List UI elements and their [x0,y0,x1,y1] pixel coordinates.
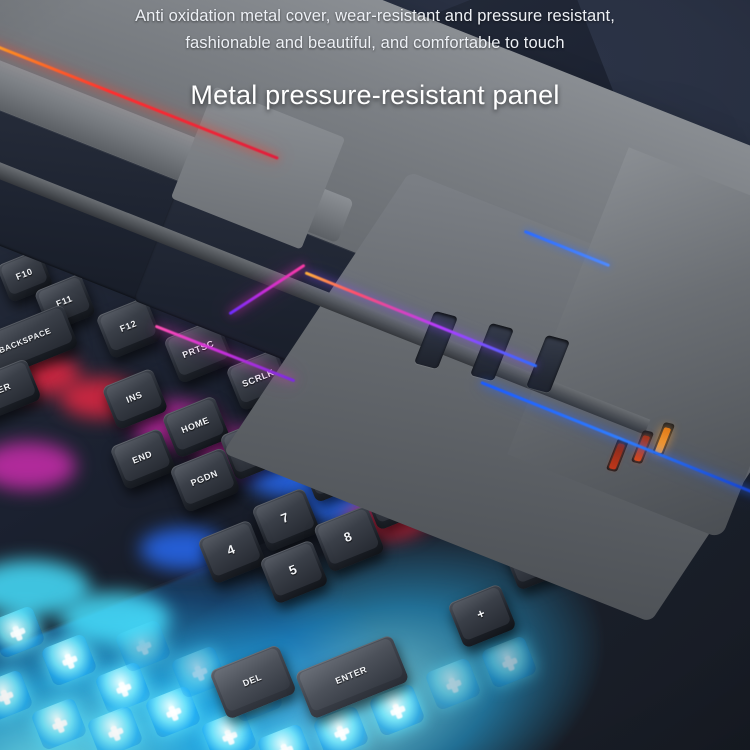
keycap-label: DEL [241,671,263,688]
keycap-label: HOME [180,415,211,435]
subtitle-line-1: Anti oxidation metal cover, wear-resista… [0,3,750,30]
rgb-underglow [60,592,170,644]
keycap-label: INS [124,389,143,405]
subtitle-line-2: fashionable and beautiful, and comfortab… [0,30,750,57]
keycap-label: PGDN [189,468,219,488]
keycap-label: F10 [14,266,34,282]
keycap-label: 5 [287,561,300,578]
marketing-copy: Anti oxidation metal cover, wear-resista… [0,0,750,111]
keycap-label: END [131,448,154,465]
keycap-label: 7 [279,509,292,526]
keycap-label: 8 [342,528,355,545]
product-promo-image: F10F11F12PRTSCSCRLKPAUSEBACKSPACEERINSHO… [0,0,750,750]
keycap-label: ER [0,380,12,394]
headline: Metal pressure-resistant panel [0,80,750,111]
keycap-label: ENTER [334,664,369,686]
subtitle: Anti oxidation metal cover, wear-resista… [0,3,750,57]
keycap-label: 4 [225,541,238,558]
keycap-label: + [474,605,487,622]
keyboard-render: F10F11F12PRTSCSCRLKPAUSEBACKSPACEERINSHO… [0,0,750,750]
keycap-label: F12 [118,318,138,334]
keycap-label: BACKSPACE [0,326,52,355]
